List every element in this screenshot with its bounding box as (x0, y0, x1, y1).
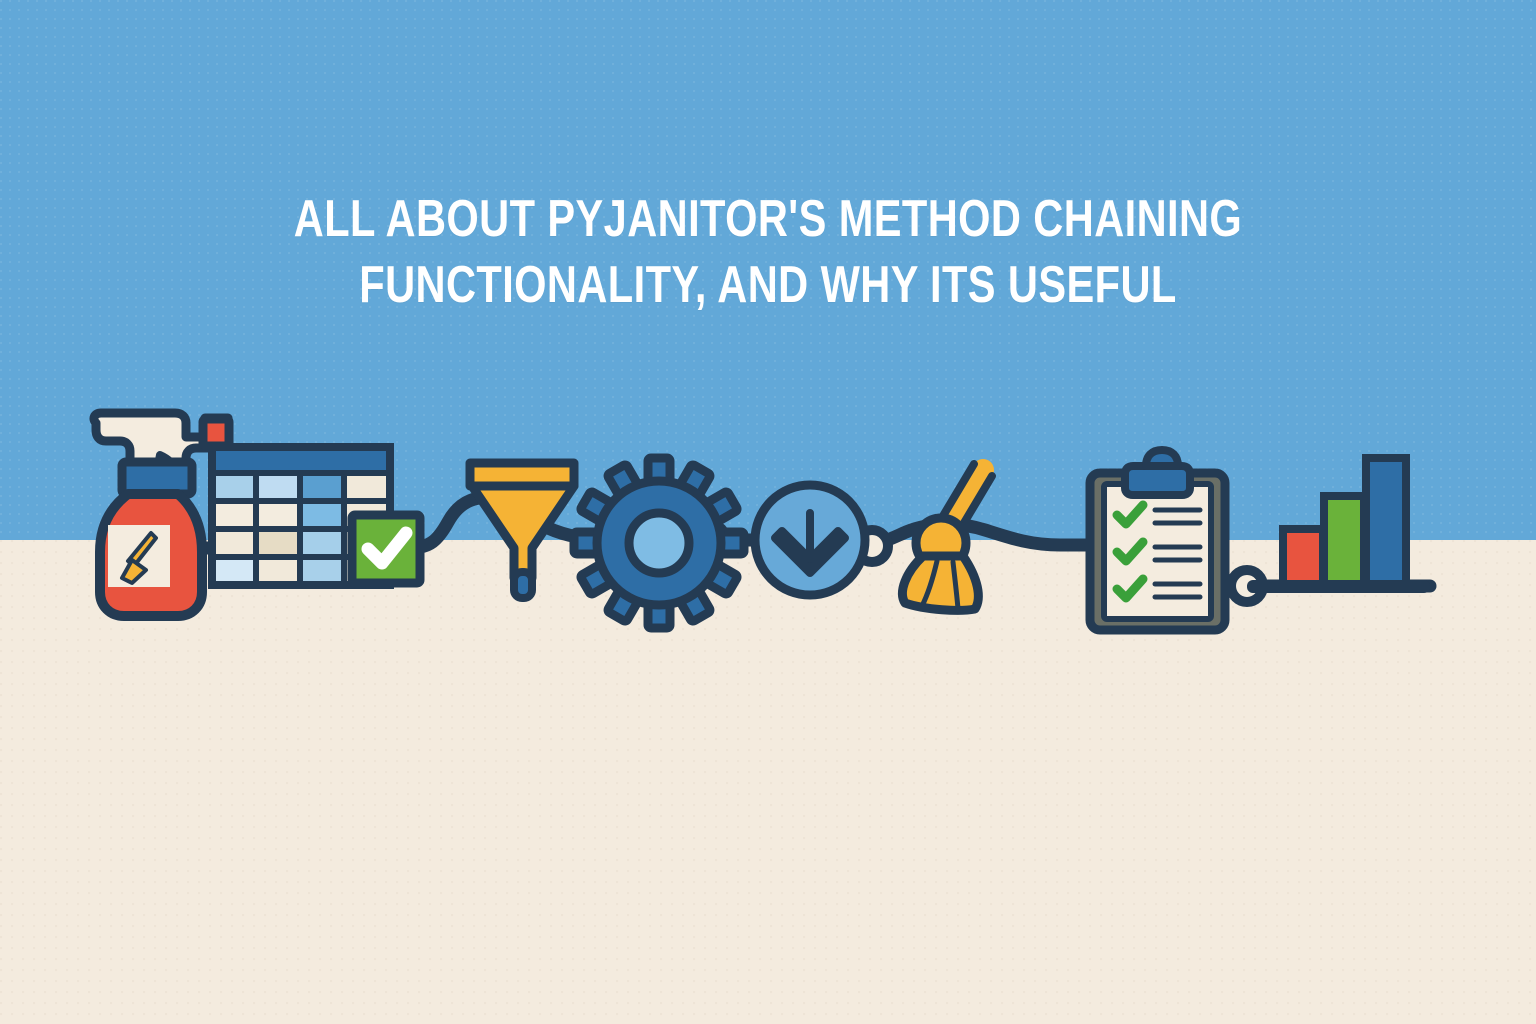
illustration-canvas: ALL ABOUT PYJANITOR'S METHOD CHAINING FU… (0, 0, 1536, 1024)
bar-3 (1366, 458, 1406, 586)
green-check-box-icon (352, 515, 420, 583)
gear-icon (574, 458, 744, 628)
download-arrow-icon (755, 485, 865, 595)
clipboard-checklist-icon (1090, 450, 1225, 630)
pipeline-illustration (0, 0, 1536, 1024)
bar-chart-baseline (1247, 580, 1430, 593)
bar-1 (1283, 529, 1323, 586)
bar-2 (1324, 496, 1364, 586)
broom-icon (902, 464, 992, 610)
bar-chart (1247, 458, 1430, 593)
